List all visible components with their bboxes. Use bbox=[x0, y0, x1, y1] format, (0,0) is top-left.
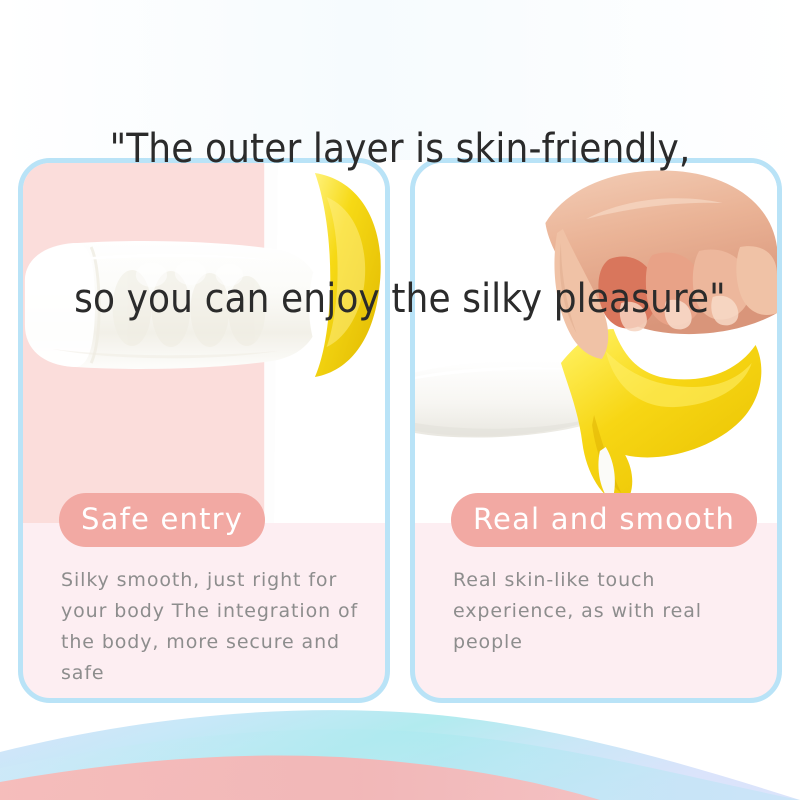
badge-safe-entry: Safe entry bbox=[59, 493, 265, 547]
headline-line-2: so you can enjoy the silky pleasure" bbox=[0, 274, 800, 324]
card-body-real-and-smooth: Real and smooth Real skin-like touch exp… bbox=[415, 493, 777, 703]
card-body-safe-entry: Safe entry Silky smooth, just right for … bbox=[23, 493, 385, 703]
card-description-real-and-smooth: Real skin-like touch experience, as with… bbox=[453, 565, 763, 658]
page-title: "The outer layer is skin-friendly, so yo… bbox=[0, 24, 800, 374]
card-description-safe-entry: Silky smooth, just right for your body T… bbox=[61, 565, 371, 689]
headline-line-1: "The outer layer is skin-friendly, bbox=[0, 124, 800, 174]
badge-real-and-smooth: Real and smooth bbox=[451, 493, 757, 547]
